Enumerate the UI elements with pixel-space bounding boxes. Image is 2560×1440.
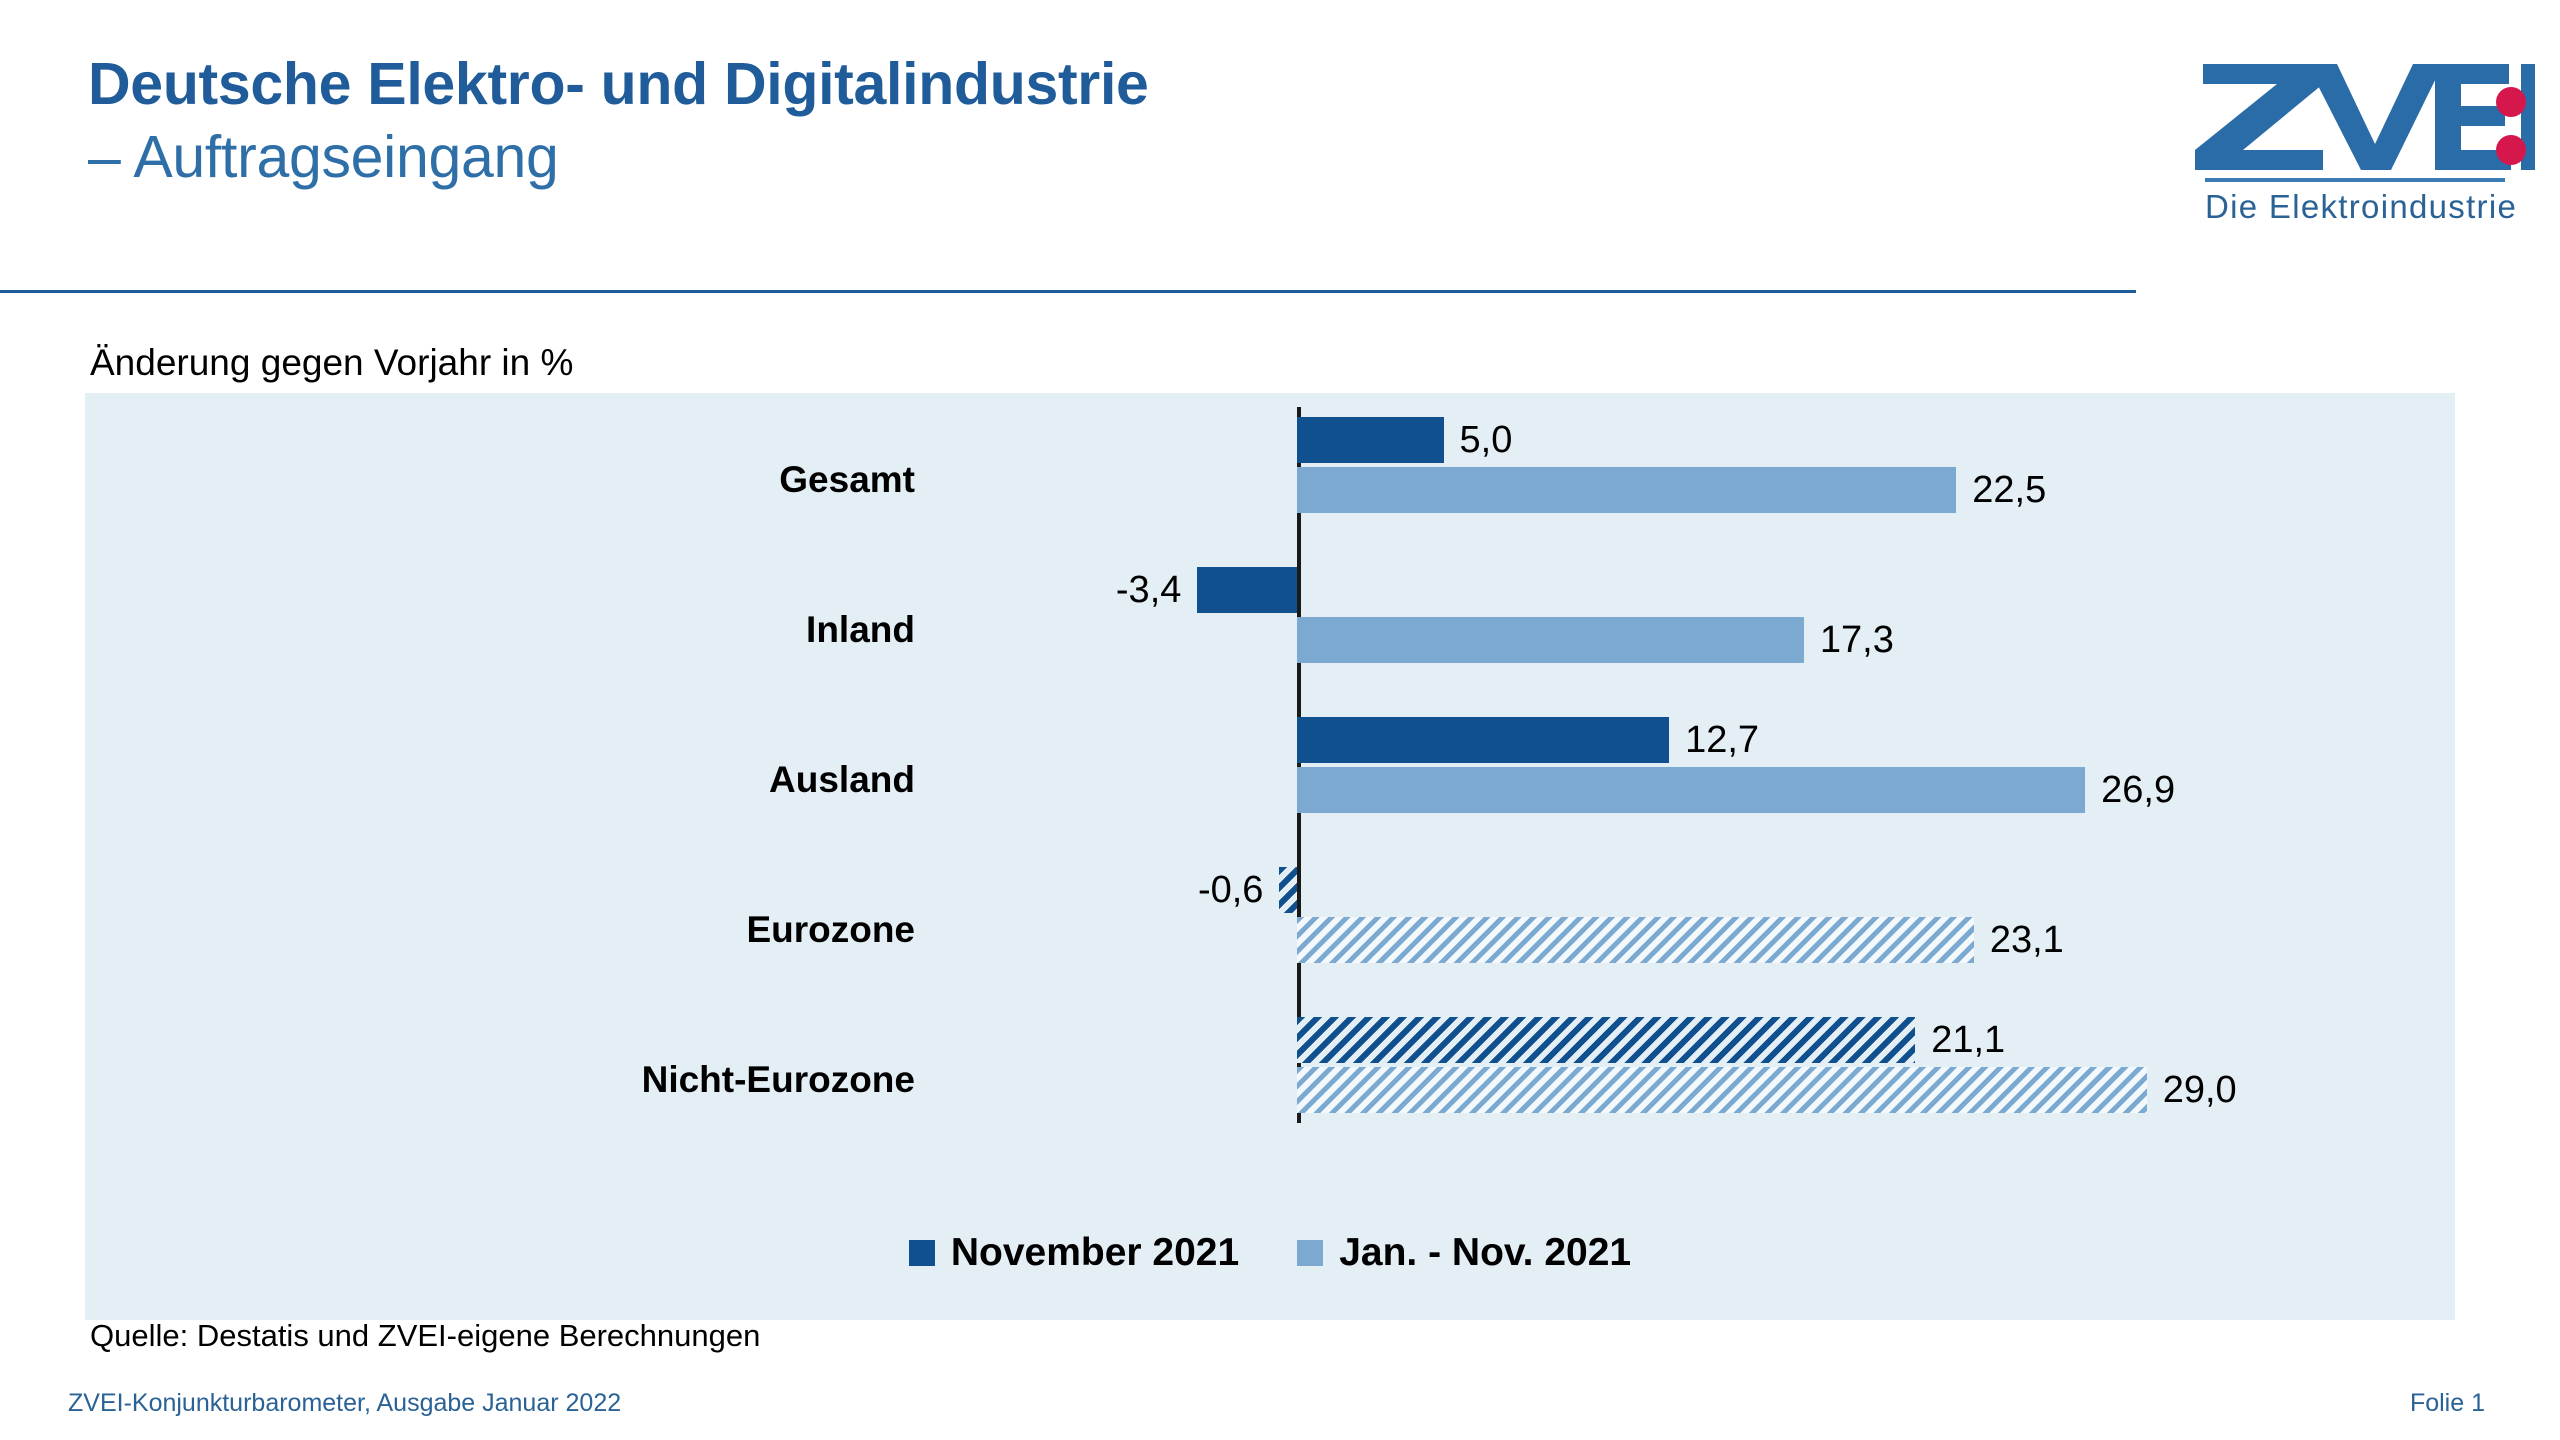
page-title: Deutsche Elektro- und Digitalindustrie –… [88,48,1988,194]
legend-label-2: Jan. - Nov. 2021 [1339,1231,1631,1275]
category-label-gesamt: Gesamt [779,459,915,501]
value-label-inland-series-2: 17,3 [1820,617,1894,663]
bar-group-eurozone: Eurozone-0,623,1 [85,867,2455,963]
category-label-inland: Inland [806,609,915,651]
legend-swatch-icon-1 [909,1240,935,1266]
bar-ausland-series-1 [1297,717,1669,763]
bar-group-ausland: Ausland12,726,9 [85,717,2455,813]
value-label-ausland-series-2: 26,9 [2101,767,2175,813]
footer-slide-number: Folie 1 [2410,1389,2485,1418]
legend-label-1: November 2021 [951,1231,1239,1275]
footer-publication: ZVEI-Konjunkturbarometer, Ausgabe Januar… [68,1389,621,1418]
bar-eurozone-series-2 [1297,917,1974,963]
zvei-logo-wordmark [2195,58,2535,166]
value-label-ausland-series-1: 12,7 [1685,717,1759,763]
bar-group-inland: Inland-3,417,3 [85,567,2455,663]
value-label-nicht-eurozone-series-2: 29,0 [2163,1067,2237,1113]
chart-legend: November 2021Jan. - Nov. 2021 [85,1213,2455,1293]
logo-divider [2205,178,2505,182]
bar-group-gesamt: Gesamt5,022,5 [85,417,2455,513]
value-label-gesamt-series-2: 22,5 [1972,467,2046,513]
value-label-eurozone-series-2: 23,1 [1990,917,2064,963]
logo-colon-dot-upper [2496,87,2526,117]
bar-inland-series-1 [1197,567,1297,613]
category-label-nicht-eurozone: Nicht-Eurozone [642,1059,915,1101]
category-label-ausland: Ausland [769,759,915,801]
legend-item-2[interactable]: Jan. - Nov. 2021 [1297,1231,1631,1275]
bar-nicht-eurozone-series-1 [1297,1017,1915,1063]
page-header: Deutsche Elektro- und Digitalindustrie –… [0,0,2560,300]
bar-eurozone-series-1 [1279,867,1297,913]
source-note: Quelle: Destatis und ZVEI-eigene Berechn… [90,1318,760,1354]
category-label-eurozone: Eurozone [746,909,915,951]
value-label-inland-series-1: -3,4 [1116,567,1181,613]
zvei-logo: Die Elektroindustrie [2195,58,2535,238]
logo-colon-dot-lower [2496,135,2526,165]
chart-plot-area: Gesamt5,022,5Inland-3,417,3Ausland12,726… [85,393,2455,1213]
chart-subtitle: Änderung gegen Vorjahr in % [90,342,573,384]
legend-item-1[interactable]: November 2021 [909,1231,1239,1275]
logo-tagline: Die Elektroindustrie [2205,188,2535,226]
legend-swatch-icon-2 [1297,1240,1323,1266]
bar-inland-series-2 [1297,617,1804,663]
value-label-eurozone-series-1: -0,6 [1198,867,1263,913]
bar-group-nicht-eurozone: Nicht-Eurozone21,129,0 [85,1017,2455,1113]
title-line-primary: Deutsche Elektro- und Digitalindustrie [88,48,1988,120]
bar-nicht-eurozone-series-2 [1297,1067,2147,1113]
bar-gesamt-series-1 [1297,417,1444,463]
title-line-secondary: – Auftragseingang [88,120,1988,194]
bar-ausland-series-2 [1297,767,2085,813]
value-label-gesamt-series-1: 5,0 [1460,417,1513,463]
bar-gesamt-series-2 [1297,467,1956,513]
value-label-nicht-eurozone-series-1: 21,1 [1931,1017,2005,1063]
chart-panel: Gesamt5,022,5Inland-3,417,3Ausland12,726… [85,393,2455,1320]
header-divider [0,290,2136,293]
